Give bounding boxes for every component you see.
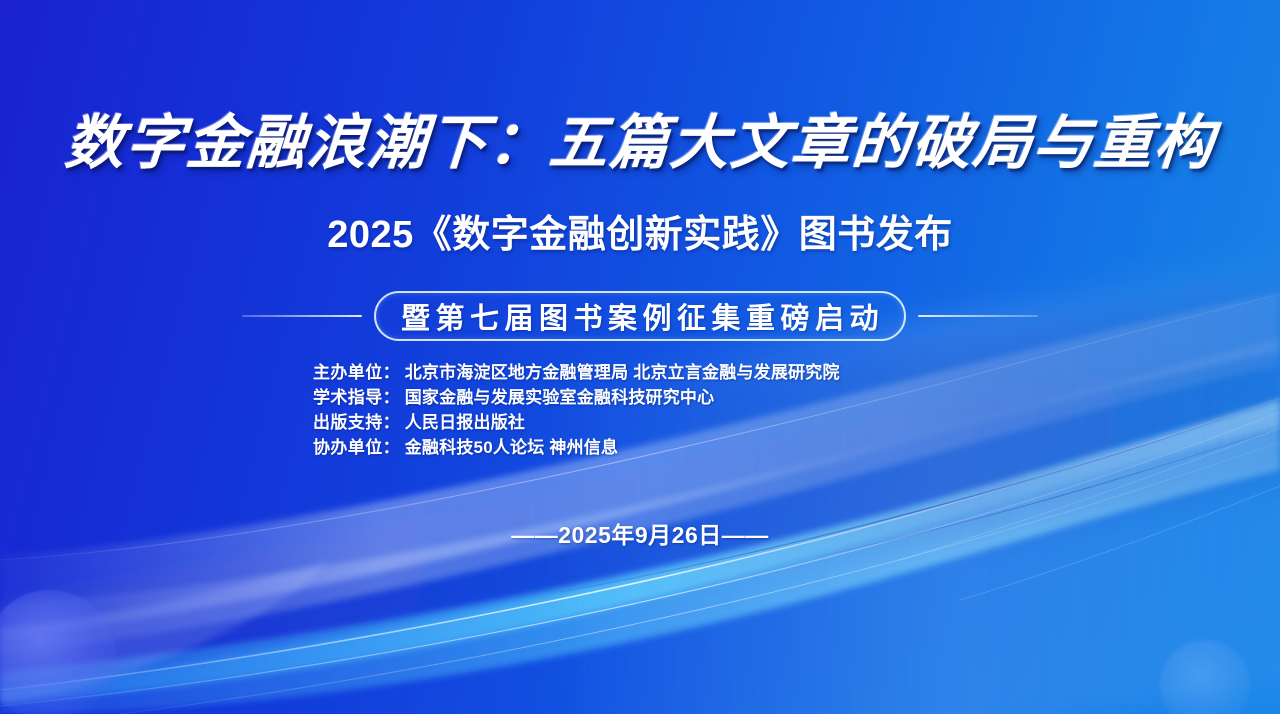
credit-value: 北京市海淀区地方金融管理局 北京立言金融与发展研究院 bbox=[405, 363, 840, 382]
rule-right bbox=[918, 315, 1038, 317]
credit-line: 协办单位： 金融科技50人论坛 神州信息 bbox=[313, 435, 1073, 460]
subtitle-book-release: 2025《数字金融创新实践》图书发布 bbox=[0, 214, 1280, 258]
credit-label: 协办单位： bbox=[313, 438, 400, 457]
credit-line: 主办单位： 北京市海淀区地方金融管理局 北京立言金融与发展研究院 bbox=[313, 360, 1073, 385]
credit-label: 学术指导： bbox=[313, 388, 400, 407]
poster-banner: 数字金融浪潮下：五篇大文章的破局与重构 2025《数字金融创新实践》图书发布 暨… bbox=[0, 0, 1280, 714]
event-date: ——2025年9月26日—— bbox=[511, 516, 769, 550]
credit-label: 出版支持： bbox=[313, 413, 400, 432]
badge-row: 暨第七届图书案例征集重磅启动 bbox=[0, 290, 1280, 342]
credits-block: 主办单位： 北京市海淀区地方金融管理局 北京立言金融与发展研究院 学术指导： 国… bbox=[313, 360, 1073, 460]
credit-label: 主办单位： bbox=[313, 363, 400, 382]
credit-value: 人民日报出版社 bbox=[405, 413, 525, 432]
credit-line: 学术指导： 国家金融与发展实验室金融科技研究中心 bbox=[313, 385, 1073, 410]
badge-call-for-cases: 暨第七届图书案例征集重磅启动 bbox=[374, 291, 906, 341]
credit-value: 金融科技50人论坛 神州信息 bbox=[405, 438, 618, 457]
poster-content: 数字金融浪潮下：五篇大文章的破局与重构 2025《数字金融创新实践》图书发布 暨… bbox=[0, 0, 1280, 714]
date-row: ——2025年9月26日—— bbox=[0, 516, 1280, 550]
badge-label: 暨第七届图书案例征集重磅启动 bbox=[396, 295, 884, 337]
credit-value: 国家金融与发展实验室金融科技研究中心 bbox=[405, 388, 715, 407]
rule-left bbox=[242, 315, 362, 317]
main-title: 数字金融浪潮下：五篇大文章的破局与重构 bbox=[0, 113, 1280, 172]
credit-line: 出版支持： 人民日报出版社 bbox=[313, 410, 1073, 435]
